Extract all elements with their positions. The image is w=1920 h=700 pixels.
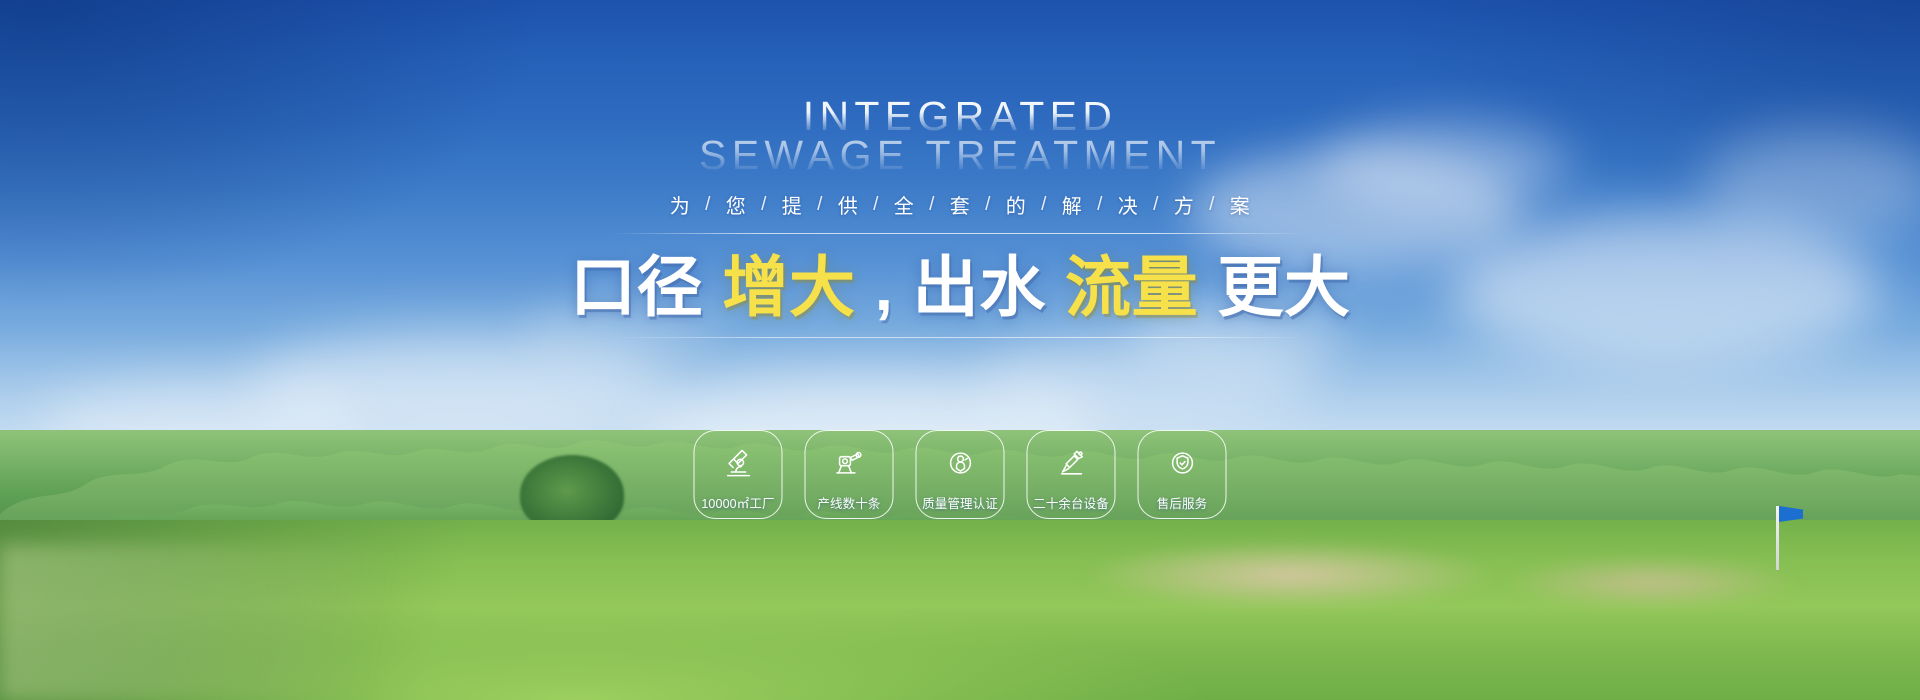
headline-part-4: 流量 [1065, 250, 1198, 324]
subtitle-char: 套 [945, 190, 975, 219]
shield-service-icon [1164, 445, 1200, 481]
subtitle-char: 为 [665, 190, 695, 219]
subtitle-separator: / [975, 194, 1001, 216]
feature-badge-list: 10000㎡工厂 产线数十条 [694, 430, 1227, 519]
english-headline-group: INTEGRATED SEWAGE TREATMENT [570, 96, 1350, 182]
feature-badge-factory[interactable]: 10000㎡工厂 [694, 430, 783, 519]
microscope-icon [720, 445, 756, 481]
subtitle-char: 供 [833, 190, 863, 219]
subtitle-separator: / [695, 194, 721, 216]
subtitle-char: 全 [889, 190, 919, 219]
english-headline-line2: SEWAGE TREATMENT [699, 135, 1221, 176]
subtitle-separator: / [1143, 194, 1169, 216]
headline-part-3: 出水 [913, 250, 1046, 324]
banner-text-column: INTEGRATED SEWAGE TREATMENT 为 / 您 / 提 / … [570, 96, 1350, 338]
subtitle-separator: / [751, 194, 777, 216]
feature-badge-label: 售后服务 [1157, 493, 1208, 512]
subtitle-separator: / [919, 194, 945, 216]
subtitle-char: 提 [777, 190, 807, 219]
feature-badge-equipment[interactable]: 二十余台设备 [1027, 430, 1116, 519]
feature-badge-production-lines[interactable]: 产线数十条 [805, 430, 894, 519]
headline-part-5: 更大 [1217, 250, 1350, 324]
headline-part-2: 增大 [722, 250, 855, 324]
divider-top [610, 233, 1310, 234]
subtitle-char: 案 [1225, 190, 1255, 219]
subtitle-char: 的 [1001, 190, 1031, 219]
subtitle-char: 解 [1057, 190, 1087, 219]
certification-medal-icon [942, 445, 978, 481]
subtitle-separator: / [863, 194, 889, 216]
subtitle-slash-row: 为 / 您 / 提 / 供 / 全 / 套 / 的 / 解 / 决 / 方 / [570, 190, 1350, 219]
feature-badge-certification[interactable]: 质量管理认证 [916, 430, 1005, 519]
subtitle-separator: / [1087, 194, 1113, 216]
feature-badge-label: 质量管理认证 [922, 493, 998, 512]
banner-content: INTEGRATED SEWAGE TREATMENT 为 / 您 / 提 / … [0, 0, 1920, 700]
subtitle-char: 决 [1113, 190, 1143, 219]
hero-banner: INTEGRATED SEWAGE TREATMENT 为 / 您 / 提 / … [0, 0, 1920, 700]
subtitle-separator: / [1199, 194, 1225, 216]
feature-badge-label: 产线数十条 [817, 493, 880, 512]
equipment-tool-icon [1053, 445, 1089, 481]
subtitle-char: 您 [721, 190, 751, 219]
production-line-icon [831, 445, 867, 481]
divider-bottom [610, 337, 1310, 338]
subtitle-separator: / [807, 194, 833, 216]
page-title: 口径 增大 , 出水 流量 更大 [570, 252, 1350, 323]
subtitle-separator: / [1031, 194, 1057, 216]
headline-part-1: 口径 [570, 250, 703, 324]
english-headline-line1: INTEGRATED [803, 96, 1118, 137]
subtitle-char: 方 [1169, 190, 1199, 219]
headline-comma: , [875, 250, 894, 324]
feature-badge-label: 二十余台设备 [1033, 493, 1109, 512]
feature-badge-label: 10000㎡工厂 [701, 493, 774, 512]
feature-badge-after-sales[interactable]: 售后服务 [1138, 430, 1227, 519]
